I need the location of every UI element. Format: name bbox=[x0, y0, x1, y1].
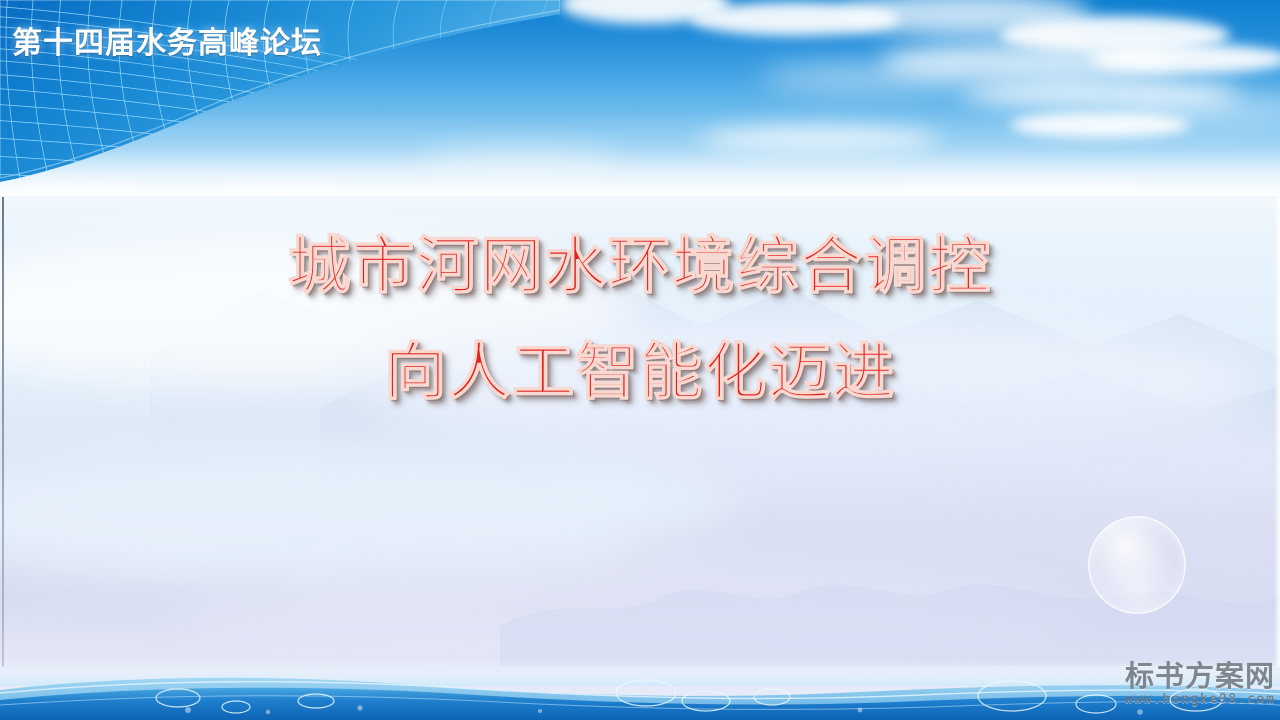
title-line-2: 向人工智能化迈进 bbox=[0, 320, 1280, 424]
watermark-site-name: 标书方案网 bbox=[1124, 660, 1276, 692]
cloud-icon bbox=[700, 126, 940, 152]
watermark: 标书方案网 www.hongke98.com bbox=[1124, 660, 1276, 708]
banner-title: 第十四届水务高峰论坛 bbox=[12, 18, 322, 62]
presentation-slide: 第十四届水务高峰论坛 bbox=[0, 0, 1280, 720]
title-line-1: 城市河网水环境综合调控 bbox=[0, 214, 1280, 318]
water-wave-graphic bbox=[0, 660, 1280, 720]
slide-left-edge bbox=[2, 197, 4, 667]
slide-right-edge bbox=[1274, 197, 1280, 667]
slide-title: 城市河网水环境综合调控 向人工智能化迈进 bbox=[0, 214, 1280, 424]
cloud-icon bbox=[760, 64, 970, 90]
water-bubble-icon bbox=[1088, 516, 1186, 614]
cloud-icon bbox=[1010, 112, 1190, 138]
watermark-url: www.hongke98.com bbox=[1124, 692, 1276, 708]
water-wave-icon bbox=[0, 660, 1280, 720]
header-banner: 第十四届水务高峰论坛 bbox=[0, 0, 560, 200]
cloud-icon bbox=[1090, 44, 1280, 74]
